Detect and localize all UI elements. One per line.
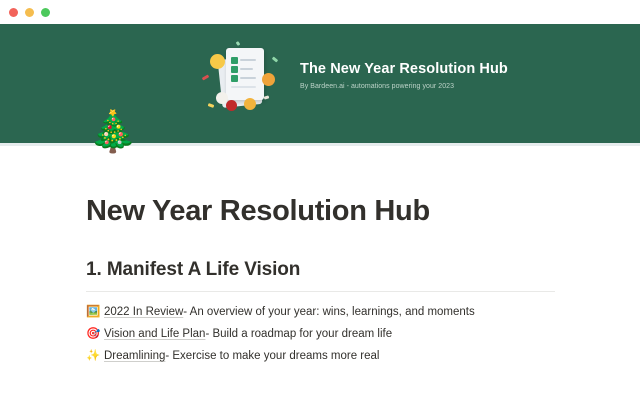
close-button[interactable] [9, 8, 18, 17]
page-content: New Year Resolution Hub 1. Manifest A Li… [0, 146, 640, 367]
framed-picture-icon: 🖼️ [86, 301, 104, 323]
list-item-link[interactable]: 2022 In Review [104, 301, 183, 323]
list-item-link[interactable]: Dreamlining [104, 345, 165, 367]
banner-group: The New Year Resolution Hub By Bardeen.a… [196, 40, 508, 116]
minimize-button[interactable] [25, 8, 34, 17]
banner-title: The New Year Resolution Hub [300, 60, 508, 78]
section-heading-1: 1. Manifest A Life Vision [0, 228, 640, 282]
zoom-button[interactable] [41, 8, 50, 17]
checklist-clipboard-confetti-illustration [196, 40, 292, 116]
list-item: 🎯 Vision and Life Plan - Build a roadmap… [0, 323, 640, 345]
dart-target-icon: 🎯 [86, 323, 104, 345]
christmas-tree-icon: 🎄 [88, 112, 138, 152]
app-window: The New Year Resolution Hub By Bardeen.a… [0, 0, 640, 400]
resource-list: 🖼️ 2022 In Review - An overview of your … [0, 292, 640, 367]
banner-subtitle: By Bardeen.ai - automations powering you… [300, 81, 508, 93]
list-item: 🖼️ 2022 In Review - An overview of your … [0, 301, 640, 323]
list-item-description: - Exercise to make your dreams more real [165, 345, 379, 367]
page-title: New Year Resolution Hub [0, 146, 640, 228]
window-titlebar [0, 0, 640, 24]
list-item-link[interactable]: Vision and Life Plan [104, 323, 205, 345]
list-item-description: - An overview of your year: wins, learni… [183, 301, 474, 323]
banner-text-group: The New Year Resolution Hub By Bardeen.a… [300, 60, 508, 97]
list-item-description: - Build a roadmap for your dream life [205, 323, 392, 345]
sparkles-icon: ✨ [86, 345, 104, 367]
list-item: ✨ Dreamlining - Exercise to make your dr… [0, 345, 640, 367]
